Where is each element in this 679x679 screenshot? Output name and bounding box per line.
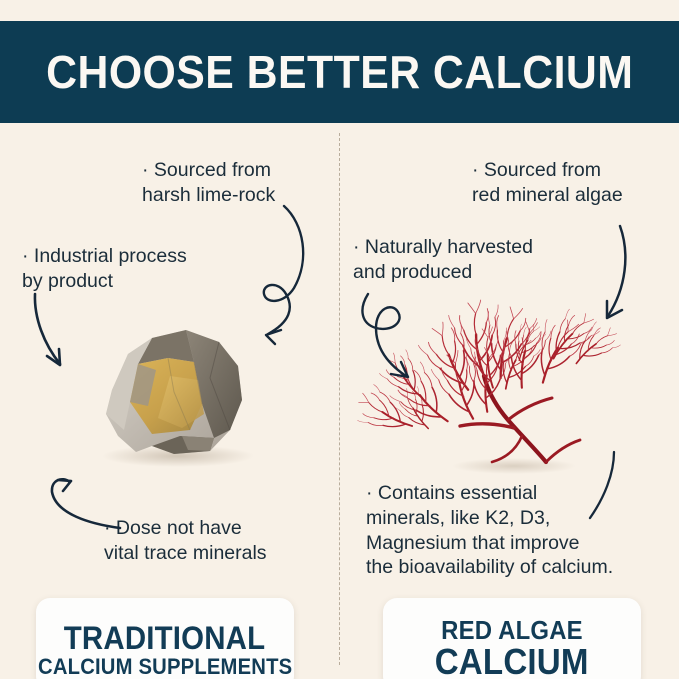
arrow-natural-to-algae	[356, 290, 456, 390]
card-red-algae-calcium: RED ALGAE CALCIUM	[383, 598, 641, 679]
note-industrial-process: · Industrial process by product	[22, 244, 252, 294]
connector-algae-to-contains	[588, 450, 624, 524]
note-naturally-harvested: · Naturally harvested and produced	[353, 235, 593, 285]
page-title: CHOOSE BETTER CALCIUM	[46, 45, 633, 99]
arrow-industrial-to-rock	[26, 288, 96, 378]
note-sourced-from-lime-rock: · Sourced from harsh lime-rock	[142, 158, 342, 208]
arrow-sourced-algae-to-algae	[596, 222, 646, 328]
card-redalgae-line2: CALCIUM	[435, 644, 589, 679]
card-traditional-line2: CALCIUM SUPPLEMENTS	[38, 655, 292, 678]
infographic-root: CHOOSE BETTER CALCIUM · Sourced from har…	[0, 0, 679, 679]
note-sourced-from-red-algae: · Sourced from red mineral algae	[472, 158, 679, 208]
card-traditional-line1: TRADITIONAL	[64, 622, 266, 655]
card-redalgae-line1: RED ALGAE	[441, 617, 583, 644]
arrow-limerock-to-rock	[248, 202, 338, 352]
note-contains-essential-minerals: · Contains essential minerals, like K2, …	[366, 481, 676, 580]
arrow-dose-to-rock	[30, 470, 140, 540]
column-divider	[339, 133, 340, 665]
card-traditional-calcium-supplements: TRADITIONAL CALCIUM SUPPLEMENTS	[36, 598, 294, 679]
header-banner: CHOOSE BETTER CALCIUM	[0, 21, 679, 123]
